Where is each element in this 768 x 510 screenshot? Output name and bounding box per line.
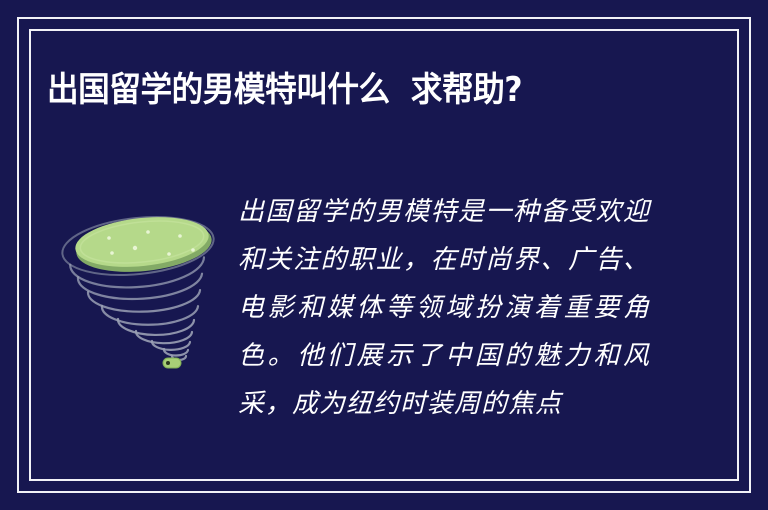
- article-content: 出国留学的男模特是一种备受欢迎和关注的职业，在时尚界、广告、电影和媒体等领域扮演…: [40, 188, 728, 460]
- tornado-illustration: [52, 198, 232, 398]
- page-title: 出国留学的男模特叫什么 求帮助?: [47, 62, 661, 118]
- article-body: 出国留学的男模特是一种备受欢迎和关注的职业，在时尚界、广告、电影和媒体等领域扮演…: [238, 188, 650, 428]
- article-card: 出国留学的男模特叫什么 求帮助?: [0, 0, 768, 510]
